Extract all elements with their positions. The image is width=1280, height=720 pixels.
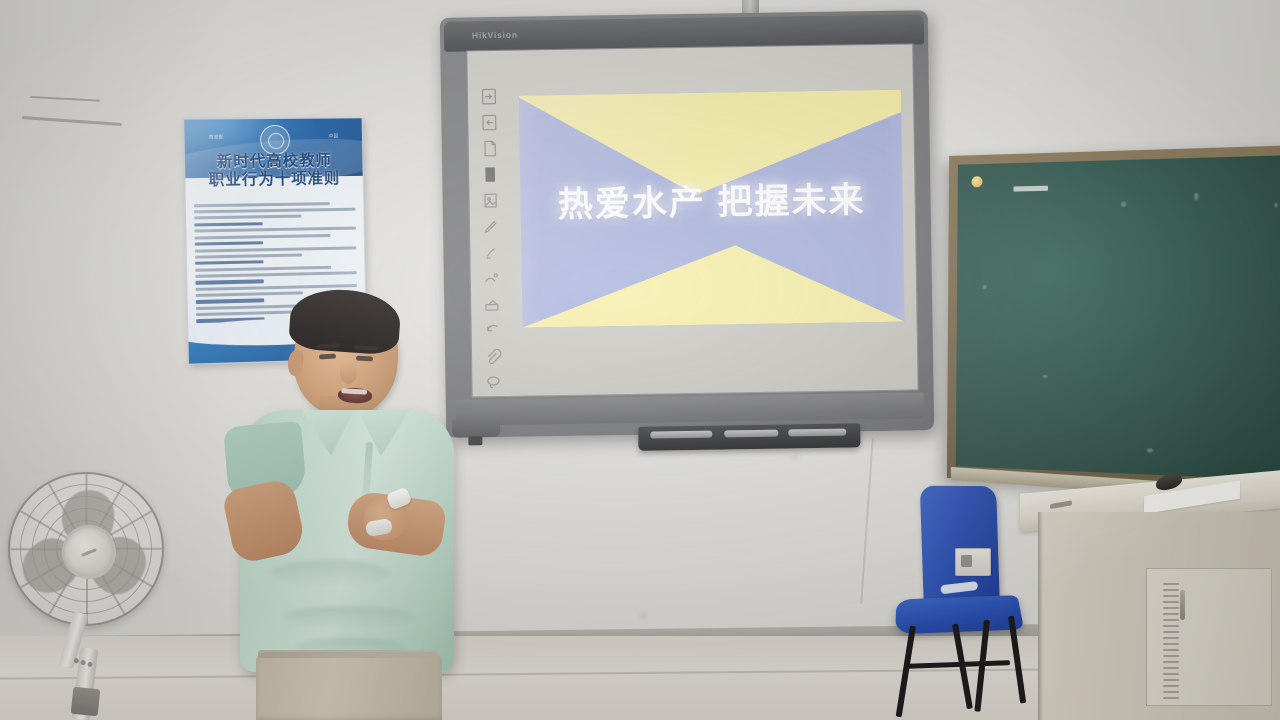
poster-title-line2: 职业行为十项准则 xyxy=(185,170,363,190)
chair-leg xyxy=(896,626,916,718)
image-page-icon[interactable] xyxy=(480,191,500,210)
classroom-scene-photo: 教育部 中国 新时代高校教师 职业行为十项准则 HikVis xyxy=(0,0,1280,720)
page-import-icon[interactable] xyxy=(479,87,499,106)
presenter-eye xyxy=(356,356,373,362)
presenter-eye xyxy=(319,354,336,360)
poster-title: 新时代高校教师 职业行为十项准则 xyxy=(185,152,363,190)
slide-bottom-triangle xyxy=(521,243,904,328)
presenter-person xyxy=(228,292,466,720)
whiteboard-brand-label: HikVision xyxy=(472,30,518,41)
slide-title-text: 热爱水产 把握未来 xyxy=(520,171,903,228)
polo-collar-left xyxy=(302,410,354,456)
pedestal-fan[interactable] xyxy=(2,472,180,720)
eraser-icon[interactable] xyxy=(482,295,502,314)
whiteboard-pen-tray[interactable] xyxy=(638,423,860,450)
page-export-icon[interactable] xyxy=(479,113,499,132)
wall-smudge xyxy=(790,455,799,460)
poster-badge-right: 中国 xyxy=(329,133,339,139)
wall-outlet[interactable] xyxy=(955,548,991,576)
podium-vent-slots xyxy=(1163,583,1179,703)
undo-arrow-icon[interactable] xyxy=(483,321,503,340)
marker-pen[interactable] xyxy=(650,431,712,439)
interactive-whiteboard[interactable]: HikVision // 智慧教育 xyxy=(440,10,935,438)
fan-hub-cap xyxy=(62,525,116,579)
presenter-nose xyxy=(340,362,357,384)
poster-badge-left: 教育部 xyxy=(209,134,224,140)
presenter-waistband xyxy=(258,650,440,658)
fan-cage-clip xyxy=(144,478,154,488)
chalkboard-magnet[interactable] xyxy=(972,176,983,187)
presenter-trousers xyxy=(256,652,442,720)
podium-cabinet-door[interactable] xyxy=(1146,568,1272,706)
presenter-teeth xyxy=(341,388,367,394)
whiteboard-mount-nub xyxy=(468,436,482,445)
shape-icon[interactable] xyxy=(482,269,502,288)
whiteboard-panel[interactable]: 热爱水产 把握未来 xyxy=(466,43,918,397)
chalkboard-chalk-mark xyxy=(1013,186,1048,192)
fan-cage-guard xyxy=(8,472,164,626)
projected-slide: 热爱水产 把握未来 xyxy=(519,90,905,328)
clip-icon[interactable] xyxy=(483,347,503,366)
presenter-hair xyxy=(288,286,402,356)
whiteboard-toolbar[interactable] xyxy=(474,87,509,384)
poster-title-line1: 新时代高校教师 xyxy=(185,152,363,172)
new-page-icon[interactable] xyxy=(480,139,500,158)
chair-backrest-slot xyxy=(940,581,978,594)
fill-page-icon[interactable] xyxy=(480,165,500,184)
marker-pen[interactable] xyxy=(788,429,846,437)
blue-plastic-chair[interactable] xyxy=(896,486,1086,720)
fan-base-block xyxy=(71,687,101,717)
podium-door-handle[interactable] xyxy=(1180,590,1185,620)
poster-emblem-icon xyxy=(260,125,290,155)
chalkboard-surface xyxy=(956,155,1280,481)
lasso-icon[interactable] xyxy=(483,373,503,392)
highlighter-icon[interactable] xyxy=(481,243,501,262)
pen-icon[interactable] xyxy=(481,217,501,236)
green-chalkboard xyxy=(947,145,1280,494)
wall-smudge xyxy=(640,612,647,619)
marker-pen[interactable] xyxy=(724,430,778,438)
fan-control-buttons[interactable] xyxy=(71,657,93,679)
